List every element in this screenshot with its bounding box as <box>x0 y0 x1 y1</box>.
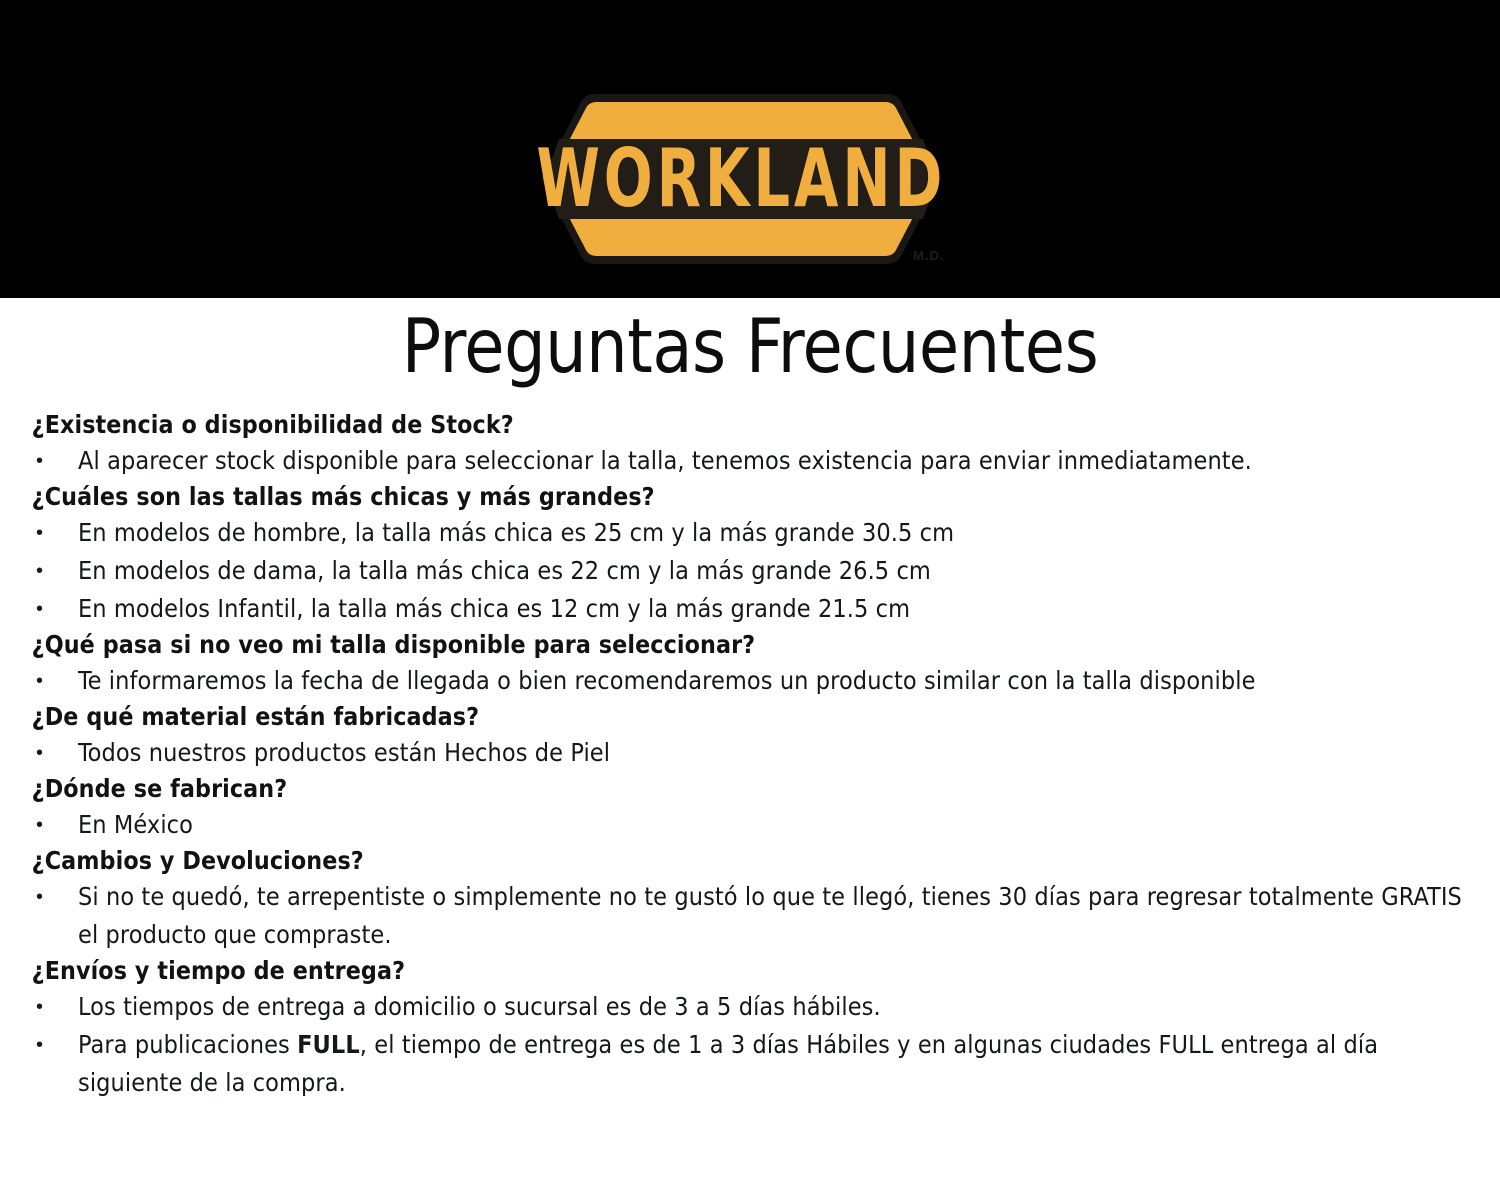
page-title: Preguntas Frecuentes <box>23 309 1478 384</box>
brand-banner: WORKLAND M.D. <box>0 0 1500 298</box>
bullet-icon: • <box>36 552 78 590</box>
logo-badge-shape <box>515 88 967 270</box>
faq-question: ¿Dónde se fabrican? <box>0 772 1485 806</box>
faq-answer-text: Al aparecer stock disponible para selecc… <box>78 442 1476 480</box>
bullet-icon: • <box>36 662 78 700</box>
bullet-icon: • <box>36 442 78 480</box>
faq-answer-row: •Al aparecer stock disponible para selec… <box>0 442 1500 480</box>
faq-answer-row: •Te informaremos la fecha de llegada o b… <box>0 662 1500 700</box>
faq-answer-text: Para publicaciones FULL, el tiempo de en… <box>78 1026 1476 1102</box>
faq-answer-text: Los tiempos de entrega a domicilio o suc… <box>78 988 1476 1026</box>
faq-question: ¿De qué material están fabricadas? <box>0 700 1485 734</box>
faq-answer-row: •En modelos de dama, la talla más chica … <box>0 552 1500 590</box>
bullet-icon: • <box>36 514 78 552</box>
bullet-icon: • <box>36 806 78 844</box>
faq-answer-text: Te informaremos la fecha de llegada o bi… <box>78 662 1476 700</box>
faq-answer-row: •En modelos Infantil, la talla más chica… <box>0 590 1500 628</box>
bullet-icon: • <box>36 590 78 628</box>
faq-answer-row: •Los tiempos de entrega a domicilio o su… <box>0 988 1500 1026</box>
faq-answer-text: En México <box>78 806 1476 844</box>
workland-logo: WORKLAND M.D. <box>515 88 967 270</box>
faq-question: ¿Existencia o disponibilidad de Stock? <box>0 408 1485 442</box>
faq-answer-text: Todos nuestros productos están Hechos de… <box>78 734 1476 772</box>
faq-answer-text: Si no te quedó, te arrepentiste o simple… <box>78 878 1476 954</box>
faq-question: ¿Cambios y Devoluciones? <box>0 844 1485 878</box>
trademark-mark: M.D. <box>913 248 944 263</box>
faq-answer-text: En modelos Infantil, la talla más chica … <box>78 590 1476 628</box>
faq-list: ¿Existencia o disponibilidad de Stock?•A… <box>0 408 1500 1102</box>
faq-answer-row: •En modelos de hombre, la talla más chic… <box>0 514 1500 552</box>
faq-answer-text: En modelos de hombre, la talla más chica… <box>78 514 1476 552</box>
faq-answer-row: •En México <box>0 806 1500 844</box>
bullet-icon: • <box>36 878 78 916</box>
bullet-icon: • <box>36 988 78 1026</box>
bullet-icon: • <box>36 1026 78 1064</box>
faq-question: ¿Envíos y tiempo de entrega? <box>0 954 1485 988</box>
faq-question: ¿Cuáles son las tallas más chicas y más … <box>0 480 1485 514</box>
faq-question: ¿Qué pasa si no veo mi talla disponible … <box>0 628 1485 662</box>
faq-answer-text: En modelos de dama, la talla más chica e… <box>78 552 1476 590</box>
faq-answer-row: •Para publicaciones FULL, el tiempo de e… <box>0 1026 1500 1102</box>
faq-answer-row: •Todos nuestros productos están Hechos d… <box>0 734 1500 772</box>
faq-answer-row: •Si no te quedó, te arrepentiste o simpl… <box>0 878 1500 954</box>
faq-page: WORKLAND M.D. Preguntas Frecuentes ¿Exis… <box>0 0 1500 1196</box>
bullet-icon: • <box>36 734 78 772</box>
